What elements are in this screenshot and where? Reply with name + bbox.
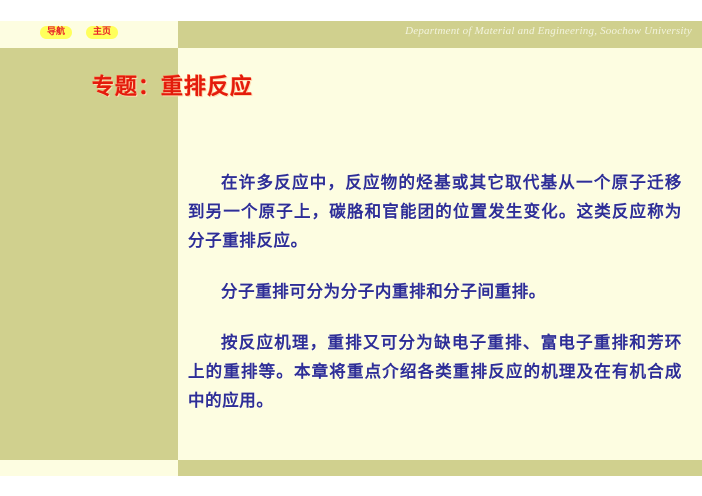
slide-body: 在许多反应中，反应物的烃基或其它取代基从一个原子迁移到另一个原子上，碳胳和官能团… <box>188 168 682 415</box>
body-paragraph-1: 在许多反应中，反应物的烃基或其它取代基从一个原子迁移到另一个原子上，碳胳和官能团… <box>188 168 682 255</box>
nav-button-group: 导航 主页 <box>40 26 118 39</box>
nav-button-navigation[interactable]: 导航 <box>40 26 72 39</box>
body-paragraph-3: 按反应机理，重排又可分为缺电子重排、富电子重排和芳环上的重排等。本章将重点介绍各… <box>188 328 682 415</box>
nav-button-home[interactable]: 主页 <box>86 26 118 39</box>
footer-right-band <box>178 460 702 476</box>
department-credit-line: Department of Material and Engineering, … <box>405 25 692 37</box>
slide-title: 专题：重排反应 <box>92 74 253 102</box>
body-paragraph-2: 分子重排可分为分子内重排和分子间重排。 <box>188 277 682 306</box>
footer-left-band <box>0 460 178 476</box>
sidebar-panel-background <box>0 48 178 460</box>
presentation-slide: 导航 主页 Department of Material and Enginee… <box>0 0 702 496</box>
